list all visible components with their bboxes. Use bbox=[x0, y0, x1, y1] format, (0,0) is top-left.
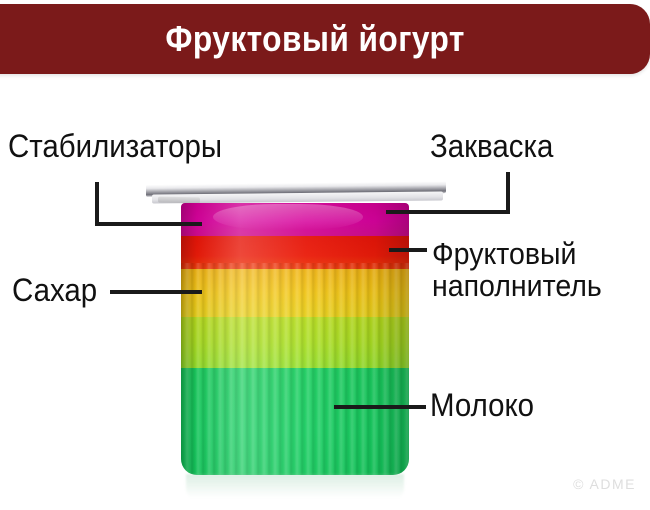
leader-line-milk bbox=[334, 405, 426, 409]
yogurt-cup bbox=[181, 203, 409, 475]
leader-line-starter-culture-vertical bbox=[506, 172, 510, 214]
leader-line-starter-culture-horizontal bbox=[386, 210, 510, 214]
label-fruit-filler-line2: наполнитель bbox=[432, 270, 602, 302]
layer-band-sugar bbox=[181, 317, 409, 368]
leader-line-stabilizers-vertical bbox=[95, 182, 99, 226]
layer-band-stabilizers bbox=[181, 203, 409, 236]
label-fruit-filler: Фруктовый наполнитель bbox=[432, 238, 602, 302]
leader-line-stabilizers-horizontal bbox=[95, 222, 202, 226]
layer-band-starter-culture bbox=[181, 236, 409, 269]
leader-line-sugar bbox=[110, 290, 202, 294]
layer-band-milk bbox=[181, 368, 409, 475]
label-milk: Молоко bbox=[430, 387, 534, 424]
label-stabilizers: Стабилизаторы bbox=[8, 128, 222, 165]
label-starter-culture: Закваска bbox=[430, 128, 553, 165]
yogurt-diagram: Стабилизаторы Закваска Сахар Фруктовый н… bbox=[0, 0, 650, 510]
leader-line-fruit-filler bbox=[389, 248, 427, 252]
foil-lid bbox=[146, 183, 446, 205]
layer-band-fruit-filler bbox=[181, 269, 409, 317]
watermark: © ADME bbox=[573, 476, 636, 492]
cup-reflection bbox=[186, 474, 404, 502]
label-sugar: Сахар bbox=[12, 272, 97, 309]
label-fruit-filler-line1: Фруктовый bbox=[432, 238, 602, 270]
